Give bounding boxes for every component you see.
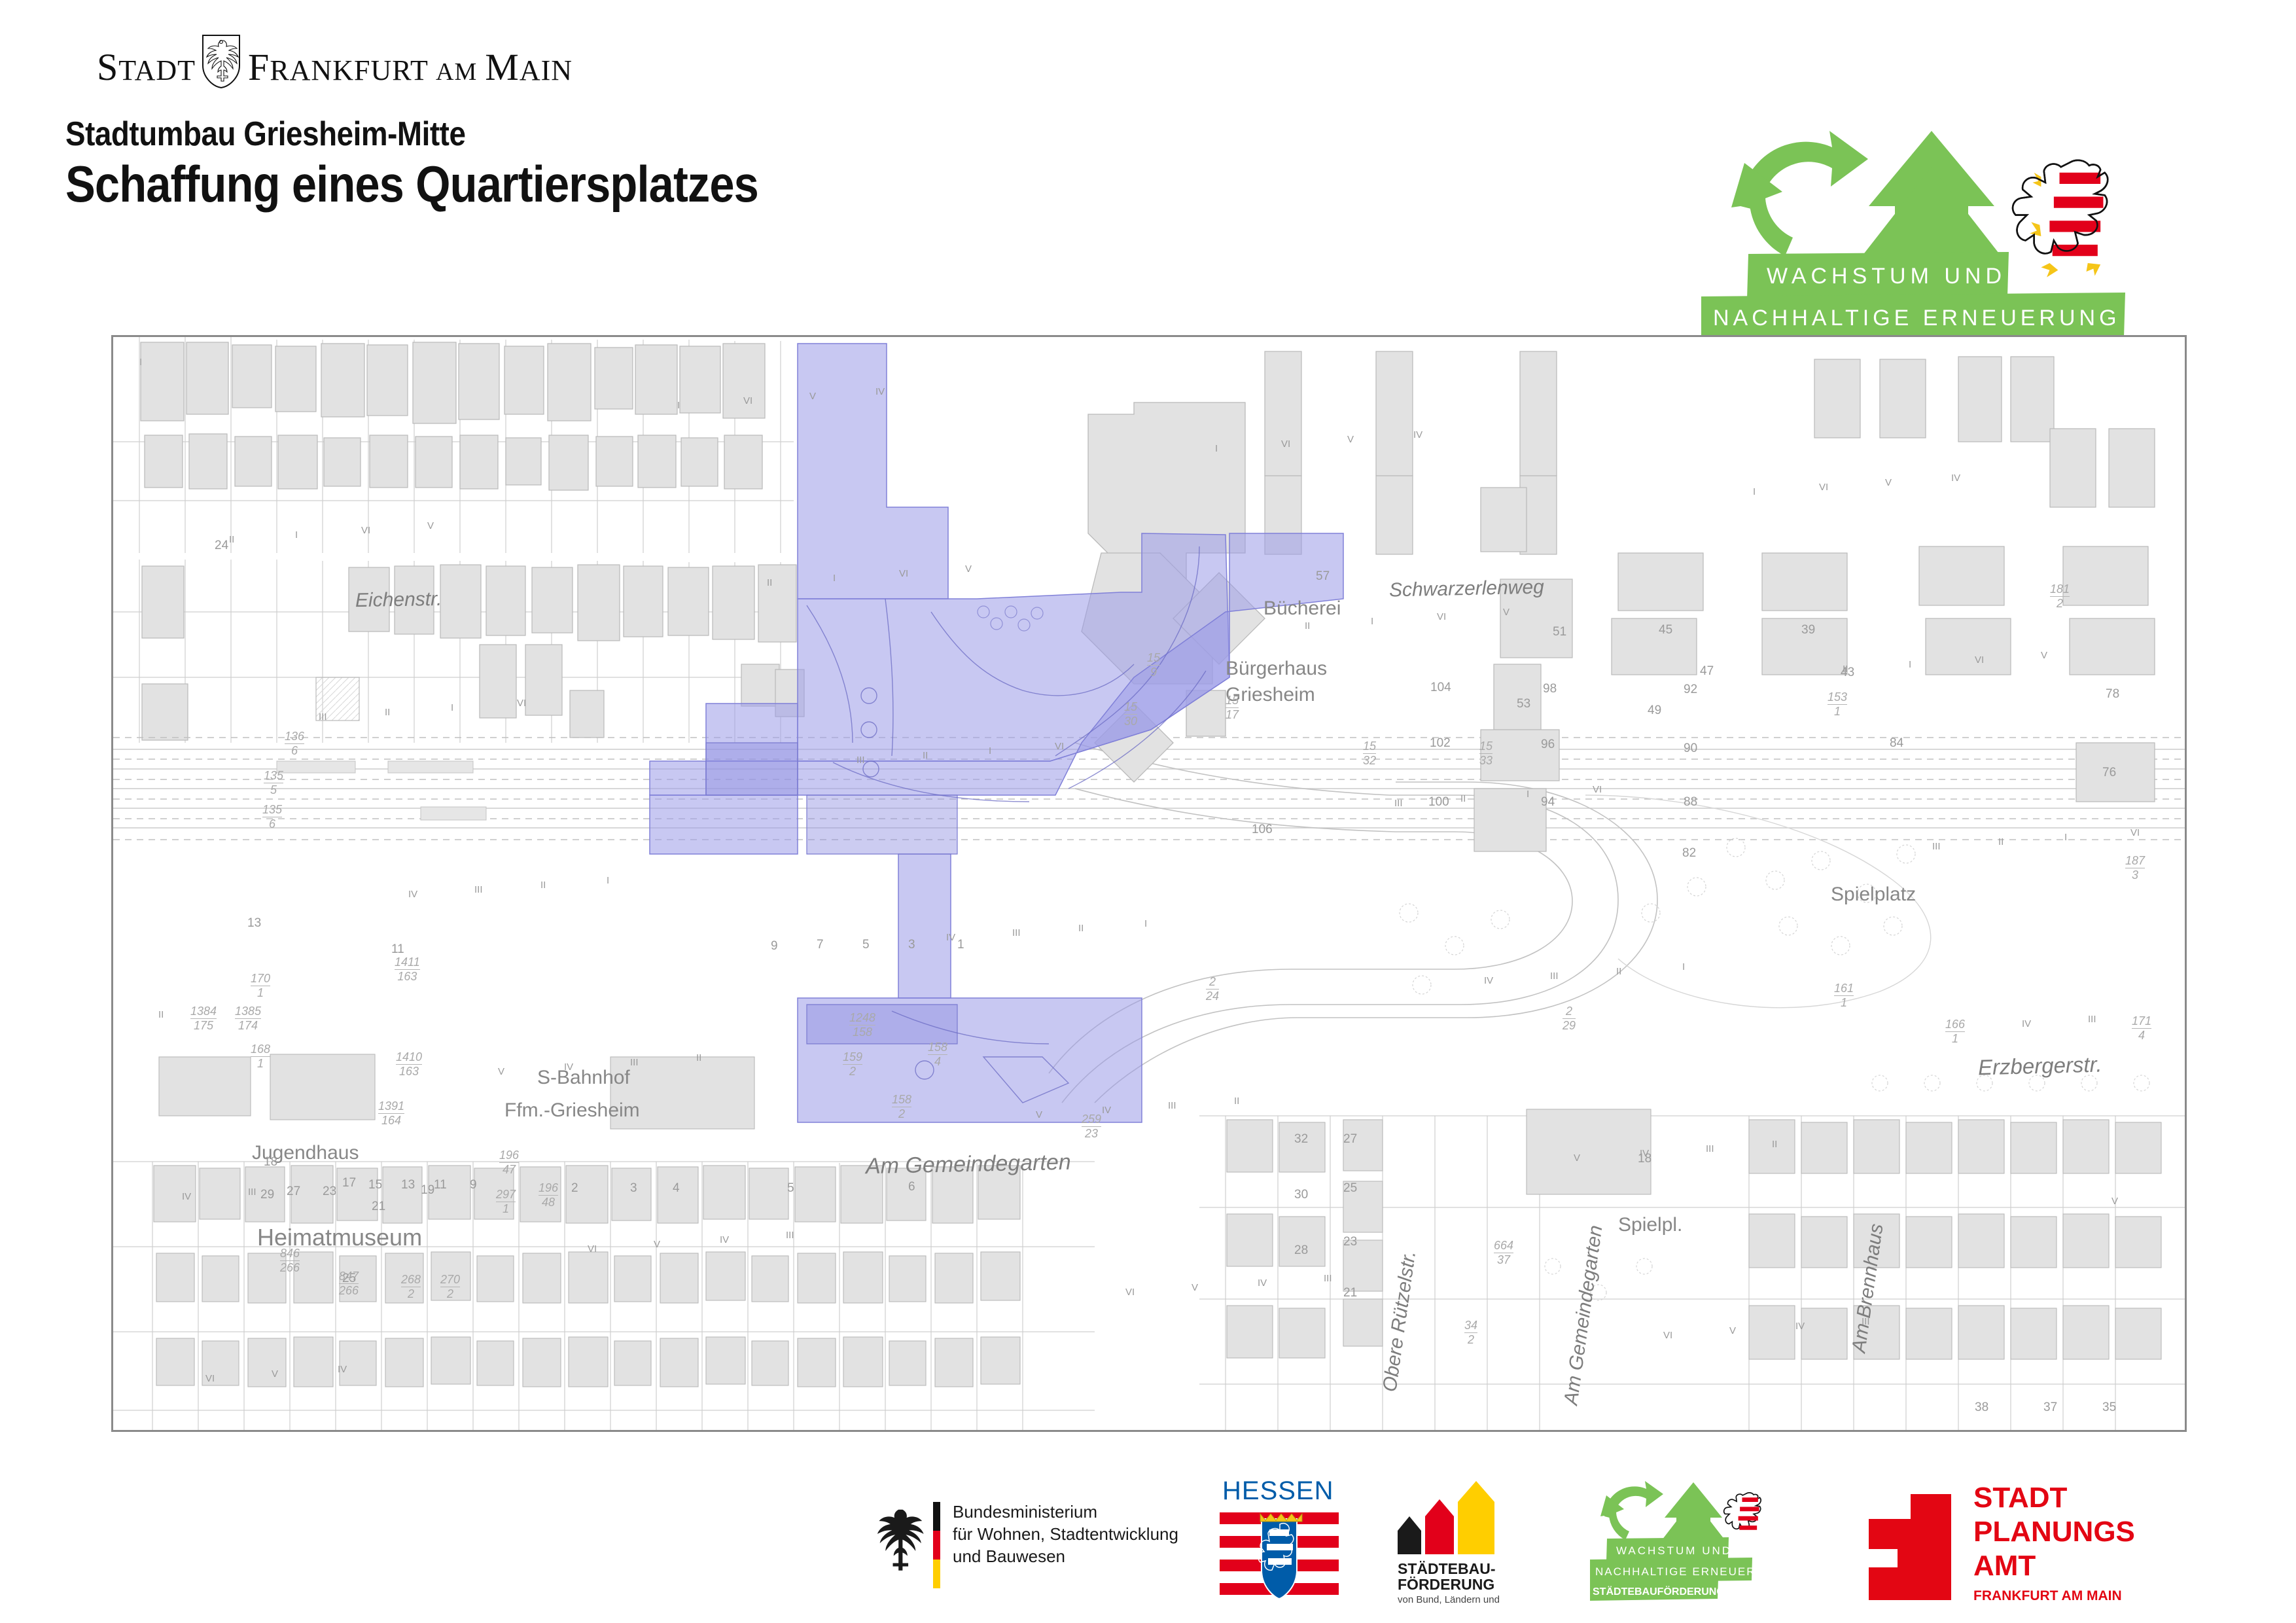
storey-marker: IV: [1258, 1277, 1267, 1289]
parcel-fraction: 1592: [843, 1050, 862, 1079]
parcel-fraction: 342: [1464, 1319, 1477, 1347]
storey-marker: V: [1192, 1282, 1198, 1293]
storey-marker: I: [1527, 789, 1529, 800]
storey-marker: I: [1215, 443, 1218, 454]
frankfurt-eagle-crest-icon: [201, 34, 241, 89]
parcel-fraction: 1385174: [235, 1005, 261, 1033]
federal-eagle-icon: [877, 1510, 924, 1571]
house-number: 90: [1684, 741, 1697, 756]
parcel-fraction: 1661: [1945, 1018, 1965, 1046]
storey-marker: VI: [2130, 827, 2140, 838]
storey-marker: VI: [1819, 482, 1828, 493]
storey-marker: II: [923, 750, 928, 761]
place-label-buergerhaus: Bürgerhaus: [1226, 658, 1327, 680]
parcel-fraction: 1530: [1124, 700, 1137, 728]
storey-marker: II: [767, 577, 772, 588]
storey-marker: VI: [1125, 1287, 1135, 1298]
parcel-fraction: 2682: [401, 1273, 421, 1301]
house-number: 11: [434, 1178, 447, 1192]
storey-marker: VI: [1663, 1330, 1672, 1341]
place-label-spielplatz: Spielplatz: [1831, 883, 1916, 906]
parcel-fraction: 1532: [1363, 740, 1376, 768]
parcel-fraction: 1812: [2050, 582, 2070, 611]
house-number: 13: [401, 1178, 415, 1192]
storey-marker: VI: [1281, 438, 1290, 450]
storey-marker: II: [1998, 836, 2004, 847]
house-number: 100: [1428, 795, 1449, 810]
house-number: 3: [630, 1181, 637, 1196]
house-number: 32: [1294, 1132, 1308, 1147]
storey-marker: I: [607, 875, 609, 886]
house-number: 18: [264, 1155, 277, 1169]
storey-marker: V: [2041, 650, 2047, 661]
house-number: 30: [1294, 1188, 1308, 1202]
spa-mark-icon: [1869, 1494, 1951, 1600]
house-number: 84: [1890, 736, 1903, 751]
storey-marker: I: [1371, 616, 1373, 627]
storey-marker: II: [1843, 664, 1848, 675]
storey-marker: II: [1234, 1096, 1239, 1107]
hessen-state-logo: HESSEN: [1217, 1476, 1341, 1607]
parcel-fraction: 1411163: [395, 955, 420, 984]
house-number: 102: [1430, 736, 1451, 751]
street-label-erzbergerstr: Erzbergerstr.: [1978, 1052, 2102, 1080]
storey-marker: V: [2111, 1196, 2118, 1207]
storey-marker: III: [1706, 1143, 1714, 1154]
house-number: 4: [673, 1181, 680, 1196]
street-label-schwarzerlenweg: Schwarzerlenweg: [1389, 577, 1544, 602]
storey-marker: IV: [1951, 473, 1960, 484]
storey-marker: IV: [720, 1234, 729, 1245]
house-number: 35: [2102, 1400, 2116, 1415]
parcel-fraction: 1701: [251, 972, 270, 1000]
house-number: 19: [421, 1183, 434, 1198]
storey-marker: VI: [1437, 611, 1446, 622]
storey-marker: V: [498, 1066, 504, 1077]
place-label-griesheim: Griesheim: [1226, 684, 1315, 706]
storey-marker: V: [427, 520, 434, 531]
storey-marker: III: [1550, 971, 1559, 982]
storey-marker: V: [1347, 434, 1354, 445]
storey-marker: VI: [743, 395, 752, 406]
place-label-buecherei: Bücherei: [1263, 597, 1341, 620]
house-number: 96: [1541, 738, 1555, 752]
storey-marker: II: [385, 707, 390, 718]
house-number: 27: [287, 1185, 300, 1199]
house-number: 9: [771, 939, 778, 954]
storey-marker: I: [2064, 832, 2067, 843]
house-number: 92: [1684, 683, 1697, 697]
storey-marker: II: [696, 1052, 701, 1063]
parcel-fraction: 1714: [2132, 1014, 2151, 1043]
storey-marker: V: [1036, 1109, 1042, 1120]
parcel-fraction: 1611: [1834, 982, 1854, 1010]
house-number: 3: [908, 938, 915, 952]
house-number: 5: [787, 1181, 794, 1196]
storey-marker: III: [1932, 841, 1941, 852]
storey-marker: III: [786, 1230, 794, 1241]
parcel-fraction: 1681: [251, 1043, 270, 1071]
storey-marker: VI: [517, 698, 526, 709]
house-number: 38: [1975, 1400, 1988, 1415]
project-subtitle: Stadtumbau Griesheim-Mitte: [65, 115, 465, 154]
storey-marker: III: [1324, 1273, 1332, 1284]
logo-line1-text: WACHSTUM UND: [1767, 264, 2006, 289]
parcel-fraction: 1517: [1226, 694, 1239, 722]
house-number: 7: [817, 938, 824, 952]
storey-marker: I: [139, 357, 142, 368]
house-number: 106: [1252, 823, 1273, 837]
storey-marker: V: [272, 1368, 278, 1380]
parcel-fraction: 1355: [264, 769, 283, 797]
wachstum-line3: STÄDTEBAUFÖRDERUNG HESSEN: [1593, 1585, 1771, 1597]
parcel-fraction: 1248158: [849, 1011, 875, 1039]
storey-marker: III: [1862, 1316, 1870, 1327]
storey-marker: IV: [564, 1061, 573, 1073]
staedtebau-line4: Gemeinden: [1398, 1606, 1449, 1607]
storey-marker: IV: [1795, 1321, 1805, 1332]
house-number: 2: [571, 1181, 578, 1196]
storey-marker: VI: [361, 525, 370, 536]
house-number: 29: [260, 1188, 274, 1202]
hessen-label: HESSEN: [1222, 1476, 1334, 1505]
house-number: 23: [323, 1185, 336, 1199]
storey-marker: III: [630, 1057, 639, 1068]
storey-marker: VI: [1975, 654, 1984, 666]
storey-marker: III: [1012, 927, 1021, 938]
parcel-fraction: 1533: [1479, 740, 1492, 768]
storey-marker: II: [158, 1009, 164, 1020]
storey-marker: VI: [588, 1243, 597, 1255]
storey-marker: II: [1305, 620, 1310, 632]
storey-marker: I: [833, 573, 836, 584]
page-title: Schaffung eines Quartiersplatzes: [65, 154, 758, 214]
parcel-fraction: 847266: [339, 1270, 359, 1298]
parcel-fraction: 2702: [440, 1273, 460, 1301]
storey-marker: V: [965, 563, 972, 575]
house-number: 5: [862, 938, 870, 952]
storey-marker: III: [1394, 798, 1403, 809]
parcel-fraction: 1873: [2125, 854, 2145, 882]
house-number: 88: [1684, 795, 1697, 810]
hessen-lion-small-icon: [1724, 1493, 1761, 1530]
house-number: 39: [1801, 623, 1815, 637]
house-number: 49: [1648, 704, 1661, 718]
bmwsb-line3: und Bauwesen: [953, 1546, 1065, 1566]
storey-marker: V: [1503, 607, 1510, 618]
parcel-fraction: 846266: [280, 1247, 300, 1275]
parcel-fraction: 159: [1147, 651, 1160, 679]
parcel-fraction: 1531: [1828, 690, 1847, 719]
plan-poster: STADT FRANKFURT AM MAIN Stadtumbau Gries…: [0, 0, 2296, 1623]
house-number: 57: [1316, 569, 1330, 584]
house-number: 9: [470, 1178, 477, 1192]
wachstum-line2: NACHHALTIGE ERNEUERUNG: [1595, 1565, 1784, 1578]
house-number: 37: [2043, 1400, 2057, 1415]
storey-marker: I: [1909, 659, 1911, 670]
house-number: 6: [908, 1180, 915, 1194]
wachstum-erneuerung-footer-logo: WACHSTUM UND NACHHALTIGE ERNEUERUNG STÄD…: [1590, 1476, 1806, 1607]
storey-marker: IV: [1484, 975, 1493, 986]
house-number: 53: [1517, 697, 1530, 711]
house-number: 21: [372, 1200, 385, 1214]
storey-marker: III: [474, 884, 483, 895]
parcel-fraction: 19648: [539, 1181, 558, 1209]
spa-line3: AMT: [1973, 1550, 2036, 1582]
storey-marker: II: [1460, 793, 1466, 804]
house-number: 27: [1343, 1132, 1357, 1147]
storey-marker: I: [451, 702, 453, 713]
wachstum-line1: WACHSTUM UND: [1616, 1544, 1732, 1557]
storey-marker: IV: [1413, 429, 1422, 440]
bmwsb-logo: Bundesministerium für Wohnen, Stadtentwi…: [870, 1476, 1178, 1607]
street-label-eichenstr: Eichenstr.: [355, 588, 442, 612]
staedtebau-line3: von Bund, Ländern und: [1398, 1594, 1500, 1605]
house-number: 21: [1343, 1286, 1357, 1300]
house-number: 25: [1343, 1181, 1357, 1196]
storey-marker: VI: [899, 568, 908, 579]
place-label-spielpl: Spielpl.: [1618, 1214, 1682, 1236]
storey-marker: II: [229, 534, 234, 545]
storey-marker: I: [677, 400, 680, 411]
storey-marker: II: [1078, 923, 1084, 934]
storey-marker: IV: [338, 1364, 347, 1375]
storey-marker: III: [1168, 1100, 1176, 1111]
storey-marker: II: [540, 880, 546, 891]
city-logo-text-stadt: STADT: [97, 48, 196, 86]
storey-marker: V: [1574, 1152, 1580, 1164]
storey-marker: I: [989, 745, 991, 757]
storey-marker: V: [654, 1239, 660, 1250]
storey-marker: V: [1729, 1325, 1736, 1336]
storey-marker: V: [1885, 477, 1892, 488]
storey-marker: VI: [1593, 784, 1602, 795]
cadastral-map[interactable]: Eichenstr. Schwarzerlenweg Am Gemeindega…: [111, 335, 2187, 1432]
house-number: 98: [1543, 682, 1557, 696]
house-number: 11: [391, 942, 404, 957]
parcel-fraction: 1366: [285, 730, 304, 758]
parcel-fraction: 25923: [1082, 1113, 1101, 1141]
house-number: 28: [1294, 1243, 1308, 1258]
storey-marker: III: [857, 755, 865, 766]
place-label-ffm-griesheim: Ffm.-Griesheim: [504, 1099, 640, 1122]
storey-marker: IV: [182, 1191, 191, 1202]
parcel-fraction: 2971: [496, 1188, 516, 1216]
house-number: 78: [2106, 687, 2119, 702]
storey-marker: II: [1772, 1139, 1777, 1150]
parcel-fraction: 1584: [928, 1041, 947, 1069]
city-logo-text-frankfurt: FRANKFURT AM MAIN: [248, 48, 573, 86]
storey-marker: III: [248, 1186, 256, 1198]
house-number: 76: [2102, 766, 2116, 780]
storey-marker: IV: [946, 932, 955, 943]
storey-marker: I: [1682, 961, 1685, 972]
storey-marker: IV: [2022, 1018, 2031, 1029]
house-number: 104: [1430, 681, 1451, 695]
spa-line2: PLANUNGS: [1973, 1516, 2135, 1548]
house-number: 47: [1700, 664, 1714, 679]
parcel-fraction: 224: [1206, 975, 1219, 1003]
parcel-fraction: 66437: [1494, 1239, 1513, 1267]
parcel-fraction: 229: [1563, 1005, 1576, 1033]
city-of-frankfurt-logo: STADT FRANKFURT AM MAIN: [97, 34, 573, 89]
house-number: 15: [368, 1178, 382, 1192]
parcel-fraction: 1391164: [378, 1099, 404, 1128]
parcel-fraction: 1410163: [396, 1050, 422, 1079]
house-number: 17: [342, 1176, 356, 1190]
storey-marker: IV: [875, 386, 885, 397]
house-number: 24: [215, 539, 228, 553]
bmwsb-line2: für Wohnen, Stadtentwicklung: [953, 1524, 1178, 1544]
storey-marker: I: [1144, 918, 1147, 929]
storey-marker: VI: [205, 1373, 215, 1384]
place-label-s-bahnhof: S-Bahnhof: [537, 1067, 630, 1089]
logo-line2-text: NACHHALTIGE ERNEUERUNG: [1713, 306, 2121, 330]
house-number: 45: [1659, 623, 1672, 637]
staedtebaufoerderung-logo: STÄDTEBAU- FÖRDERUNG von Bund, Ländern u…: [1394, 1476, 1531, 1607]
storey-marker: II: [1616, 966, 1621, 977]
stadtplanungsamt-logo: STADT PLANUNGS AMT FRANKFURT AM MAIN: [1852, 1476, 2192, 1607]
staedtebau-line2: FÖRDERUNG: [1398, 1576, 1494, 1593]
spa-line4: FRANKFURT AM MAIN: [1973, 1588, 2122, 1603]
parcel-fraction: 1384175: [190, 1005, 217, 1033]
house-number: 94: [1541, 795, 1555, 810]
parcel-fraction: 1356: [262, 803, 282, 831]
staedtebau-line1: STÄDTEBAU-: [1398, 1560, 1496, 1577]
bmwsb-line1: Bundesministerium: [953, 1502, 1097, 1522]
storey-marker: I: [1753, 486, 1756, 497]
house-number: 23: [1343, 1235, 1357, 1249]
storey-marker: III: [319, 711, 327, 722]
storey-marker: IV: [408, 889, 417, 900]
house-number: 1: [957, 938, 964, 952]
storey-marker: IV: [1102, 1105, 1111, 1116]
storey-marker: V: [809, 391, 816, 402]
house-number: 13: [247, 916, 261, 931]
parcel-fraction: 19647: [499, 1149, 519, 1177]
storey-marker: III: [2088, 1014, 2096, 1025]
parcel-fraction: 1582: [892, 1093, 911, 1121]
spa-line1: STADT: [1973, 1482, 2068, 1514]
street-label-am-gemeindegarten: Am Gemeindegarten: [866, 1150, 1071, 1180]
house-number: 51: [1553, 625, 1566, 639]
storey-marker: IV: [1640, 1148, 1649, 1159]
storey-marker: I: [295, 529, 298, 541]
house-number: 82: [1682, 846, 1696, 861]
storey-marker: VI: [1055, 741, 1064, 752]
